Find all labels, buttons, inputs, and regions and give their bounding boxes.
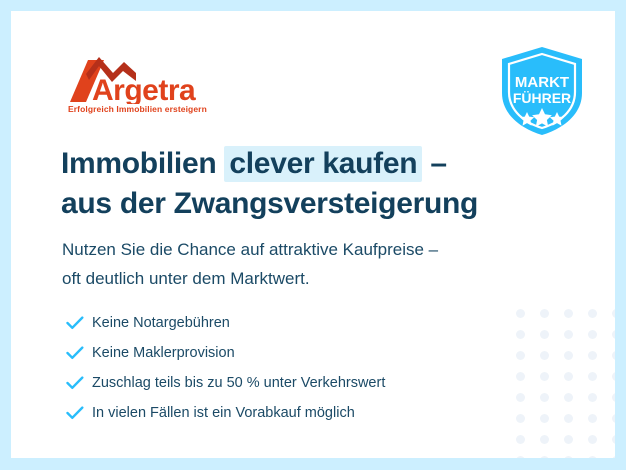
decorative-dot — [564, 456, 573, 458]
headline-line2: aus der Zwangsversteigerung — [61, 184, 581, 224]
check-icon — [66, 406, 92, 420]
badge-line1-text: MARKT — [515, 74, 569, 91]
decorative-dot — [516, 435, 525, 444]
decorative-dot — [588, 435, 597, 444]
decorative-dot — [612, 330, 615, 339]
decorative-dot — [612, 351, 615, 360]
decorative-dot — [564, 330, 573, 339]
list-item-label: In vielen Fällen ist ein Vorabkauf mögli… — [92, 405, 355, 421]
logo-tagline: Erfolgreich Immobilien ersteigern — [68, 104, 207, 114]
decorative-dot — [564, 414, 573, 423]
decorative-dot — [612, 435, 615, 444]
list-item-label: Keine Maklerprovision — [92, 345, 235, 361]
decorative-dot — [612, 456, 615, 458]
benefits-list: Keine Notargebühren Keine Maklerprovisio… — [66, 308, 546, 428]
decorative-dot — [564, 351, 573, 360]
list-item-label: Zuschlag teils bis zu 50 % unter Verkehr… — [92, 375, 385, 391]
decorative-dot — [588, 330, 597, 339]
headline-line1-prefix: Immobilien — [61, 147, 224, 180]
subtitle-line2: oft deutlich unter dem Marktwert. — [62, 264, 582, 293]
subtitle: Nutzen Sie die Chance auf attraktive Kau… — [62, 235, 582, 293]
check-icon — [66, 316, 92, 330]
decorative-dot — [588, 351, 597, 360]
decorative-dot — [588, 456, 597, 458]
decorative-dot — [540, 435, 549, 444]
decorative-dot — [588, 372, 597, 381]
decorative-dot — [540, 456, 549, 458]
decorative-dot — [564, 372, 573, 381]
headline-highlight: clever kaufen — [224, 146, 422, 182]
decorative-dot — [612, 393, 615, 402]
subtitle-line1: Nutzen Sie die Chance auf attraktive Kau… — [62, 235, 582, 264]
promo-banner: Argetra Erfolgreich Immobilien ersteiger… — [0, 0, 626, 470]
decorative-dot — [564, 435, 573, 444]
check-icon — [66, 376, 92, 390]
badge-line2-text: FÜHRER — [513, 90, 571, 106]
decorative-dot — [612, 309, 615, 318]
list-item: Keine Notargebühren — [66, 308, 546, 338]
argetra-a-roof-icon: Argetra — [66, 56, 206, 104]
page-title: Immobilien clever kaufen – aus der Zwang… — [61, 144, 581, 224]
decorative-dot — [588, 309, 597, 318]
headline-line1-suffix: – — [422, 147, 446, 180]
decorative-dot — [564, 393, 573, 402]
decorative-dot — [612, 372, 615, 381]
decorative-dot — [612, 414, 615, 423]
svg-text:Argetra: Argetra — [92, 74, 196, 104]
decorative-dot — [516, 456, 525, 458]
decorative-dot — [564, 309, 573, 318]
market-leader-badge: MARKT FÜHRER — [498, 45, 586, 137]
argetra-logo[interactable]: Argetra Erfolgreich Immobilien ersteiger… — [66, 56, 246, 118]
list-item: In vielen Fällen ist ein Vorabkauf mögli… — [66, 398, 546, 428]
decorative-dot — [588, 414, 597, 423]
banner-card: Argetra Erfolgreich Immobilien ersteiger… — [11, 11, 615, 458]
check-icon — [66, 346, 92, 360]
decorative-dot — [588, 393, 597, 402]
list-item-label: Keine Notargebühren — [92, 315, 230, 331]
list-item: Zuschlag teils bis zu 50 % unter Verkehr… — [66, 368, 546, 398]
list-item: Keine Maklerprovision — [66, 338, 546, 368]
